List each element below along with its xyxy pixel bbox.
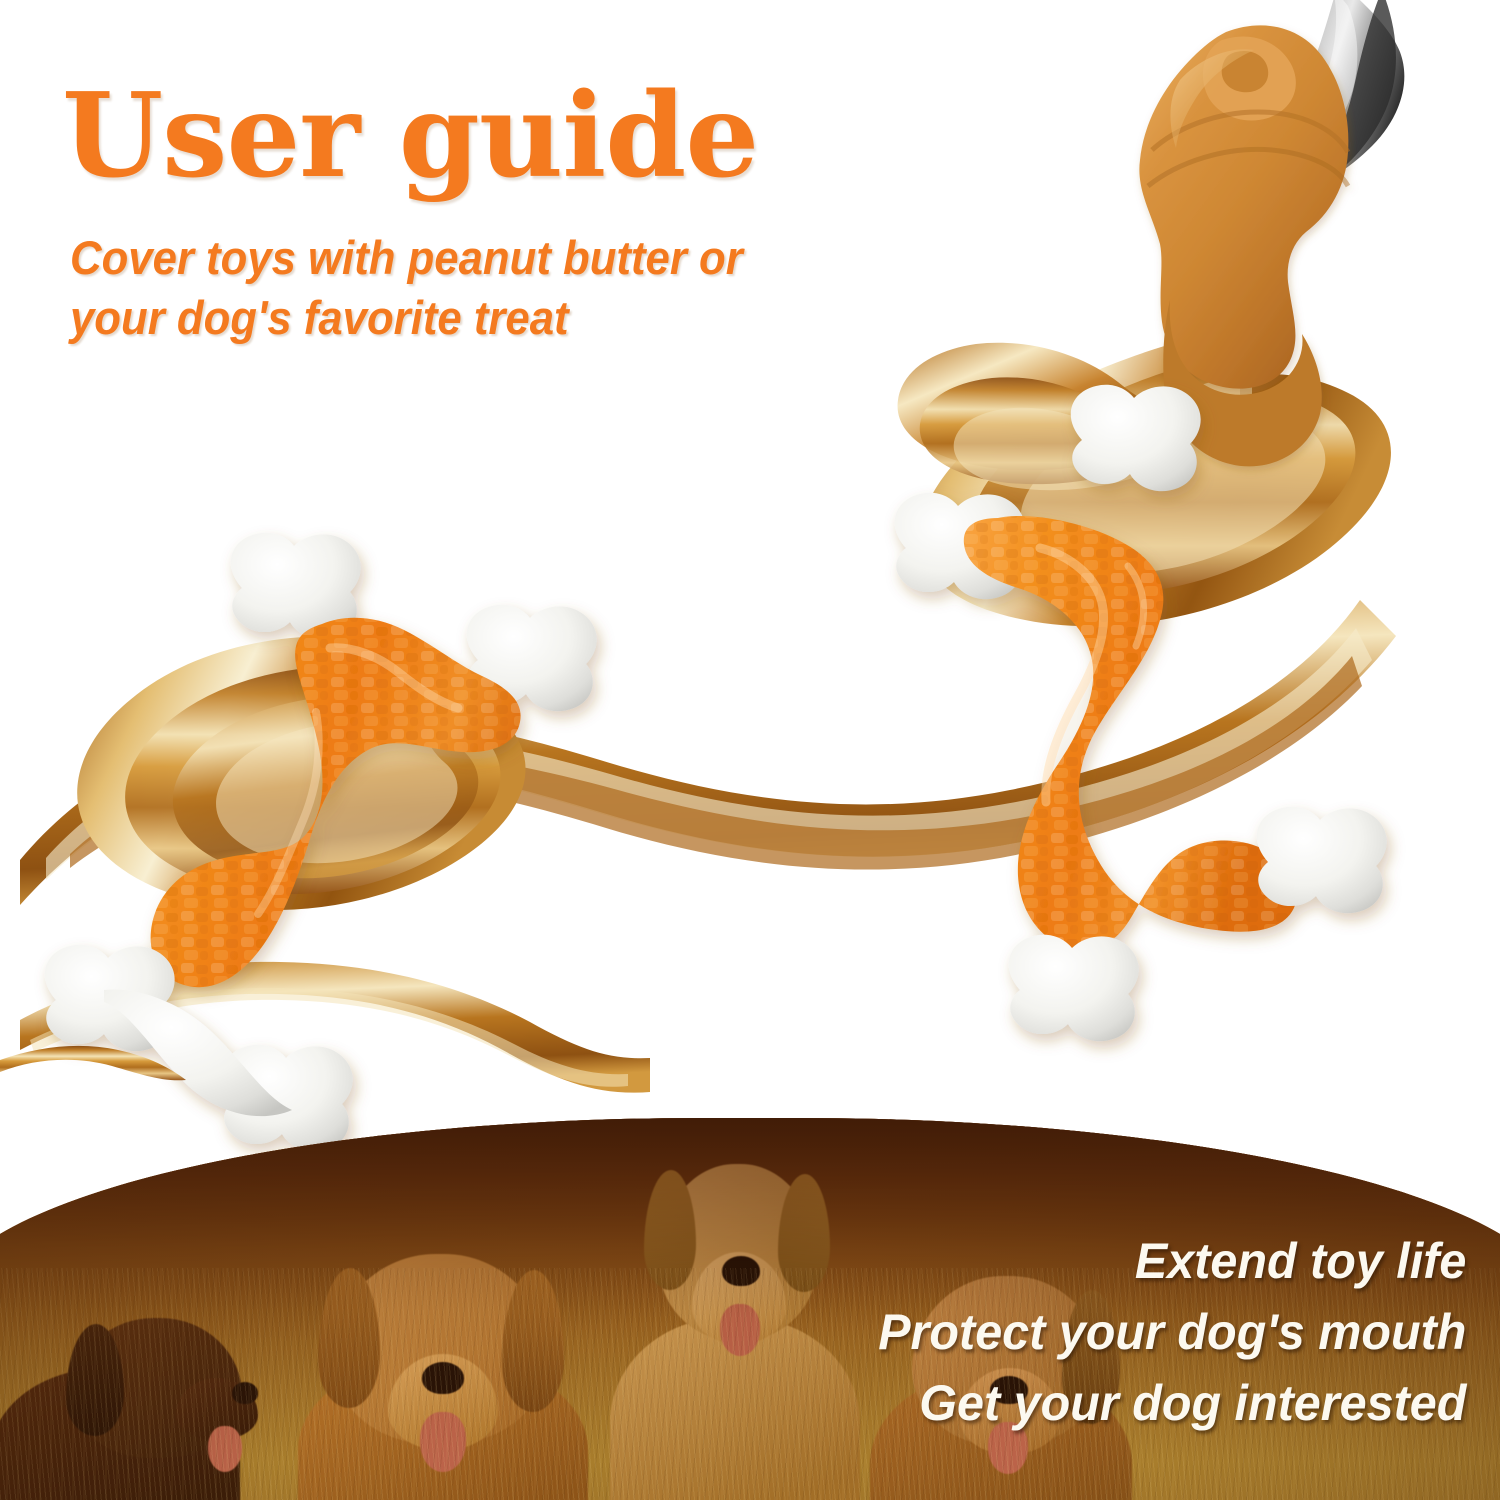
page-title: User guide: [62, 78, 962, 194]
benefits-list: Extend toy life Protect your dog's mouth…: [860, 1226, 1466, 1439]
benefit-line-get-dog-interested: Get your dog interested: [878, 1368, 1466, 1439]
headline-block: User guide Cover toys with peanut butter…: [62, 78, 962, 348]
benefit-line-protect-dogs-mouth: Protect your dog's mouth: [878, 1297, 1466, 1368]
subtitle-line-2: your dog's favorite treat: [70, 288, 900, 348]
product-guide-image: User guide Cover toys with peanut butter…: [0, 0, 1500, 1500]
subtitle: Cover toys with peanut butter or your do…: [70, 228, 900, 348]
bone-knob-bottom-left: [1009, 935, 1139, 1041]
benefit-line-extend-toy-life: Extend toy life: [878, 1226, 1466, 1297]
bone-knob-bottom-right: [1257, 807, 1387, 913]
subtitle-line-1: Cover toys with peanut butter or: [70, 228, 900, 288]
bone-knob-top-right: [1071, 385, 1201, 491]
